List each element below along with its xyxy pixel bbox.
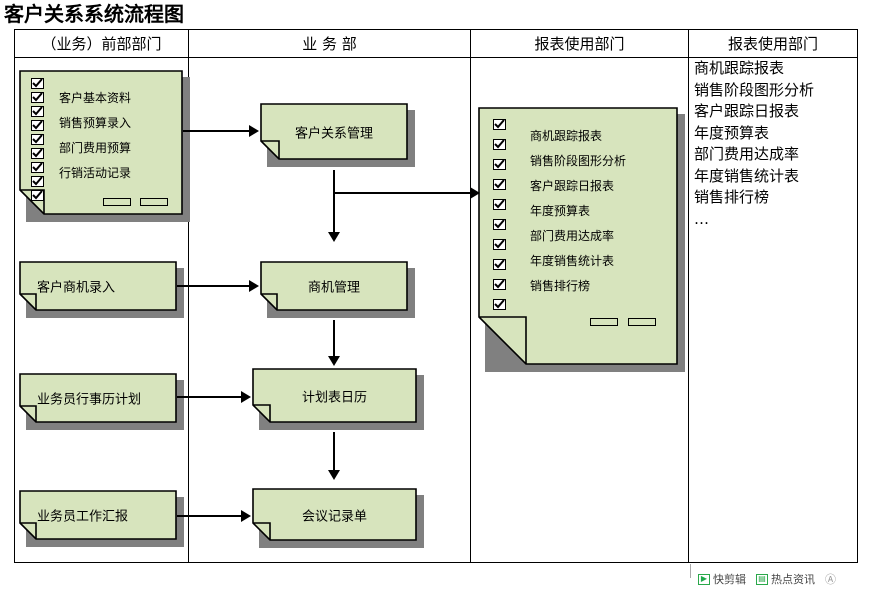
- checklist-item: 商机跟踪报表: [530, 127, 602, 144]
- node-customer-opportunity-entry: 客户商机录入: [19, 261, 177, 311]
- news-icon: ▤: [756, 574, 768, 585]
- checkbox-checked-icon: [31, 78, 44, 89]
- document-tab: [590, 318, 618, 326]
- flowchart-page: 客户关系系统流程图 （业务）前部部门 业 务 部 报表使用部门 报表使用部门: [0, 0, 891, 590]
- checkbox-checked-icon: [31, 176, 44, 187]
- checkbox-checked-icon: [493, 259, 506, 270]
- report-list-item: 销售阶段图形分析: [694, 80, 864, 102]
- checklist-item: 销售阶段图形分析: [530, 152, 626, 169]
- checkbox-checked-icon: [31, 92, 44, 103]
- arrow-down-icon: [328, 356, 340, 366]
- column-header-report-users: 报表使用部门: [471, 29, 688, 57]
- node-meeting-minutes: 会议记录单: [252, 488, 417, 541]
- node-schedule-calendar: 计划表日历: [252, 368, 417, 423]
- connector-line: [333, 432, 335, 472]
- arrow-right-icon: [470, 187, 480, 199]
- node-crm-management: 客户关系管理: [260, 103, 408, 160]
- report-list-item: 年度销售统计表: [694, 166, 864, 188]
- connector-line: [177, 515, 243, 517]
- checkbox-checked-icon: [31, 134, 44, 145]
- connector-line: [177, 285, 251, 287]
- arrow-right-icon: [241, 391, 251, 403]
- checklist-item: 部门费用达成率: [530, 227, 614, 244]
- column-header-sales-dept: 业 务 部: [189, 29, 470, 57]
- checkbox-checked-icon: [31, 106, 44, 117]
- column-divider-3: [688, 29, 689, 563]
- checkbox-checked-icon: [31, 120, 44, 131]
- document-tab: [103, 198, 131, 206]
- play-clip-icon: ▶: [698, 574, 710, 585]
- checkbox-checked-icon: [31, 162, 44, 173]
- checkbox-checked-icon: [493, 159, 506, 170]
- connector-line: [183, 130, 251, 132]
- connector-line: [333, 320, 335, 358]
- checkbox-checked-icon: [493, 279, 506, 290]
- node-label: 客户商机录入: [37, 277, 115, 296]
- arrow-down-icon: [328, 470, 340, 480]
- checklist-item: 客户基本资料: [59, 89, 131, 106]
- tray-item-label: 快剪辑: [713, 571, 746, 587]
- tray-item-label: 热点资讯: [771, 571, 815, 587]
- node-label: 计划表日历: [252, 386, 417, 405]
- node-label: 业务员工作汇报: [37, 506, 128, 525]
- checkbox-checked-icon: [493, 139, 506, 150]
- report-list-item: 客户跟踪日报表: [694, 101, 864, 123]
- checklist-item: 部门费用预算: [59, 139, 131, 156]
- arrow-right-icon: [241, 510, 251, 522]
- checklist-item: 销售排行榜: [530, 277, 590, 294]
- arrow-down-icon: [328, 232, 340, 242]
- report-list-item: 销售排行榜: [694, 187, 864, 209]
- bottom-tray: ▶ 快剪辑 ▤ 热点资讯 Ⓐ: [690, 568, 891, 590]
- report-list-item: …: [694, 209, 864, 231]
- report-list-item: 商机跟踪报表: [694, 58, 864, 80]
- column-header-front-office: （业务）前部部门: [15, 29, 188, 57]
- checklist-item: 销售预算录入: [59, 114, 131, 131]
- checkbox-checked-icon: [493, 239, 506, 250]
- reports-checklist-document: 商机跟踪报表 销售阶段图形分析 客户跟踪日报表 年度预算表 部门费用达成率 年度…: [478, 107, 678, 365]
- connector-line: [177, 396, 243, 398]
- report-list: 商机跟踪报表 销售阶段图形分析 客户跟踪日报表 年度预算表 部门费用达成率 年度…: [694, 58, 864, 230]
- column-divider-2: [470, 29, 471, 563]
- node-salesperson-work-report: 业务员工作汇报: [19, 490, 177, 540]
- checkbox-checked-icon: [31, 148, 44, 159]
- checklist-item: 年度销售统计表: [530, 252, 614, 269]
- report-list-item: 部门费用达成率: [694, 144, 864, 166]
- connector-line: [333, 192, 473, 194]
- document-tab: [140, 198, 168, 206]
- node-opportunity-management: 商机管理: [260, 261, 408, 311]
- tray-item-quick-clip[interactable]: ▶ 快剪辑: [698, 571, 746, 587]
- front-office-checklist-document: 客户基本资料 销售预算录入 部门费用预算 行销活动记录: [19, 70, 183, 215]
- column-header-report-users-list: 报表使用部门: [689, 29, 857, 57]
- node-label: 业务员行事历计划: [37, 389, 141, 408]
- arrow-right-icon: [249, 280, 259, 292]
- tray-item-hot-news[interactable]: ▤ 热点资讯: [756, 571, 815, 587]
- page-title: 客户关系系统流程图: [4, 0, 184, 27]
- checklist-item: 年度预算表: [530, 202, 590, 219]
- document-tab: [628, 318, 656, 326]
- tray-trailing-icon[interactable]: Ⓐ: [825, 571, 836, 587]
- node-label: 客户关系管理: [260, 122, 408, 141]
- node-label: 会议记录单: [252, 505, 417, 524]
- connector-line: [333, 170, 335, 234]
- checkbox-checked-icon: [493, 299, 506, 310]
- node-salesperson-calendar-plan: 业务员行事历计划: [19, 373, 177, 423]
- arrow-right-icon: [249, 125, 259, 137]
- tray-divider: [690, 564, 691, 578]
- checklist-item: 客户跟踪日报表: [530, 177, 614, 194]
- node-label: 商机管理: [260, 277, 408, 296]
- checkbox-checked-icon: [493, 179, 506, 190]
- report-list-item: 年度预算表: [694, 123, 864, 145]
- checkbox-checked-icon: [493, 199, 506, 210]
- checkbox-checked-icon: [493, 119, 506, 130]
- checkbox-checked-icon: [493, 219, 506, 230]
- checklist-item: 行销活动记录: [59, 164, 131, 181]
- checkbox-checked-icon: [31, 190, 44, 201]
